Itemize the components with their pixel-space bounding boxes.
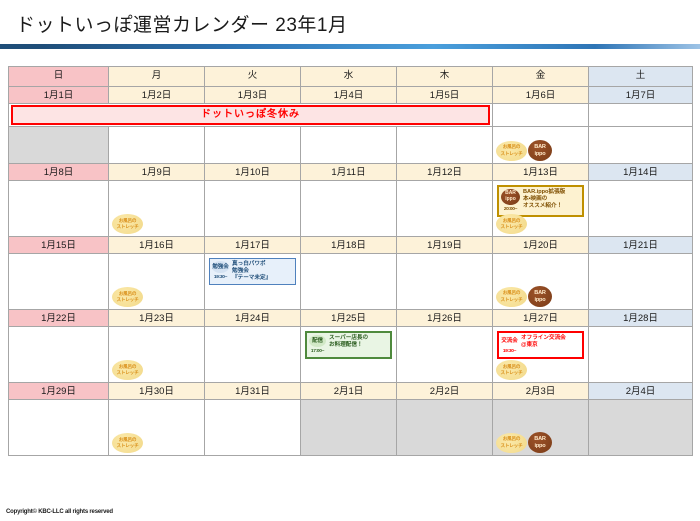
- event-description-line-0: 真っ白パワポ: [232, 261, 293, 268]
- day-cell-1月27日[interactable]: 交流会19:30~オフライン交流会@東京お風呂のストレッチ: [493, 327, 589, 383]
- calendar-date-row: 1月1日1月2日1月3日1月4日1月5日1月6日1月7日: [9, 87, 693, 104]
- dow-header-1: 月: [109, 67, 205, 87]
- day-cell-1月3日[interactable]: [205, 127, 301, 164]
- event-tag-chip: BARippo: [501, 189, 520, 205]
- date-cell-1月5日[interactable]: 1月5日: [397, 87, 493, 104]
- event-tag-column: 交流会19:30~: [501, 335, 518, 355]
- date-cell-1月12日[interactable]: 1月12日: [397, 164, 493, 181]
- badge-line2: ストレッチ: [501, 224, 523, 231]
- event-box-meet[interactable]: 交流会19:30~オフライン交流会@東京: [497, 331, 584, 359]
- day-cell-content: 交流会19:30~オフライン交流会@東京お風呂のストレッチ: [493, 327, 588, 382]
- date-cell-1月6日[interactable]: 1月6日: [493, 87, 589, 104]
- day-badge-group: お風呂のストレッチBARippo: [496, 432, 552, 453]
- ofuro-stretch-badge-icon[interactable]: お風呂のストレッチ: [112, 433, 143, 453]
- badge-line2: ストレッチ: [117, 224, 139, 231]
- day-cell-content: [109, 127, 204, 163]
- day-cell-content: [589, 254, 692, 309]
- event-time: 17:00~: [311, 348, 324, 355]
- day-cell-1月18日[interactable]: [301, 254, 397, 310]
- dow-header-3: 水: [301, 67, 397, 87]
- day-cell-1月13日[interactable]: BARippo20:00~BAR.ippo拡張版本・映画のオススメ紹介！お風呂の…: [493, 181, 589, 237]
- day-cell-content: [397, 254, 492, 309]
- day-cell-1月8日[interactable]: [9, 181, 109, 237]
- day-cell-content: [589, 327, 692, 382]
- header-divider-bar: [0, 44, 700, 49]
- day-cell-1月22日[interactable]: [9, 327, 109, 383]
- ofuro-stretch-badge-icon[interactable]: お風呂のストレッチ: [496, 360, 527, 380]
- day-cell-content: [205, 327, 300, 382]
- calendar-content-row: お風呂のストレッチ配信17:00~スーパー店長のお料理配信！交流会19:30~オ…: [9, 327, 693, 383]
- date-cell-1月8日[interactable]: 1月8日: [9, 164, 109, 181]
- badge-line2: ippo: [534, 151, 545, 158]
- date-cell-1月16日[interactable]: 1月16日: [109, 237, 205, 254]
- calendar-content-row: お風呂のストレッチ勉強会19:30~真っ白パワポ勉強会『テーマ未定』お風呂のスト…: [9, 254, 693, 310]
- date-cell-1月21日[interactable]: 1月21日: [589, 237, 693, 254]
- day-cell-2月3日[interactable]: お風呂のストレッチBARippo: [493, 400, 589, 456]
- banner-empty-cell: [589, 104, 693, 127]
- day-cell-1月29日[interactable]: [9, 400, 109, 456]
- ofuro-stretch-badge-icon[interactable]: お風呂のストレッチ: [112, 287, 143, 307]
- date-cell-1月2日[interactable]: 1月2日: [109, 87, 205, 104]
- date-cell-1月13日[interactable]: 1月13日: [493, 164, 589, 181]
- event-description-line-2: オススメ紹介！: [523, 203, 580, 210]
- date-cell-1月15日[interactable]: 1月15日: [9, 237, 109, 254]
- day-cell-content: [205, 181, 300, 236]
- day-cell-content: 勉強会19:30~真っ白パワポ勉強会『テーマ未定』: [205, 254, 300, 309]
- winter-break-banner[interactable]: ドットいっぽ冬休み: [11, 105, 490, 125]
- day-cell-1月28日[interactable]: [589, 327, 693, 383]
- event-description-line-1: @東京: [521, 342, 580, 349]
- day-cell-1月17日[interactable]: 勉強会19:30~真っ白パワポ勉強会『テーマ未定』: [205, 254, 301, 310]
- date-cell-1月27日[interactable]: 1月27日: [493, 310, 589, 327]
- day-cell-content: [301, 181, 396, 236]
- date-cell-2月4日[interactable]: 2月4日: [589, 383, 693, 400]
- day-badge-group: お風呂のストレッチ: [112, 287, 143, 307]
- calendar-content-row: お風呂のストレッチBARippo: [9, 127, 693, 164]
- event-tag-chip: 勉強会: [212, 261, 229, 273]
- day-cell-1月6日[interactable]: お風呂のストレッチBARippo: [493, 127, 589, 164]
- day-cell-content: お風呂のストレッチ: [109, 327, 204, 382]
- badge-line1: BAR: [534, 290, 546, 297]
- date-cell-1月23日[interactable]: 1月23日: [109, 310, 205, 327]
- dow-header-2: 火: [205, 67, 301, 87]
- day-cell-1月12日[interactable]: [397, 181, 493, 237]
- date-cell-1月9日[interactable]: 1月9日: [109, 164, 205, 181]
- event-description-line-1: 本・映画の: [523, 196, 580, 203]
- day-cell-content: 配信17:00~スーパー店長のお料理配信！: [301, 327, 396, 382]
- day-cell-1月15日[interactable]: [9, 254, 109, 310]
- date-cell-2月1日[interactable]: 2月1日: [301, 383, 397, 400]
- date-cell-1月29日[interactable]: 1月29日: [9, 383, 109, 400]
- day-cell-1月24日[interactable]: [205, 327, 301, 383]
- day-badge-group: お風呂のストレッチBARippo: [496, 286, 552, 307]
- badge-line2: ストレッチ: [117, 370, 139, 377]
- day-cell-content: [9, 400, 108, 455]
- day-cell-2月4日[interactable]: [589, 400, 693, 456]
- calendar-date-row: 1月29日1月30日1月31日2月1日2月2日2月3日2月4日: [9, 383, 693, 400]
- badge-line1: BAR: [534, 436, 546, 443]
- badge-line2: ストレッチ: [117, 443, 139, 450]
- day-cell-1月26日[interactable]: [397, 327, 493, 383]
- event-tag-column: BARippo20:00~: [501, 189, 520, 213]
- day-cell-1月31日[interactable]: [205, 400, 301, 456]
- date-cell-1月4日[interactable]: 1月4日: [301, 87, 397, 104]
- dow-header-6: 土: [589, 67, 693, 87]
- calendar-table: 日月火水木金土1月1日1月2日1月3日1月4日1月5日1月6日1月7日ドットいっ…: [8, 66, 693, 456]
- badge-line2: ippo: [534, 297, 545, 304]
- day-cell-1月5日[interactable]: [397, 127, 493, 164]
- date-cell-1月11日[interactable]: 1月11日: [301, 164, 397, 181]
- event-tag-column: 勉強会19:30~: [212, 261, 229, 281]
- day-cell-content: お風呂のストレッチBARippo: [493, 400, 588, 455]
- day-cell-content: BARippo20:00~BAR.ippo拡張版本・映画のオススメ紹介！お風呂の…: [493, 181, 588, 236]
- winter-break-banner-cell: ドットいっぽ冬休み: [9, 104, 493, 127]
- ofuro-stretch-badge-icon[interactable]: お風呂のストレッチ: [112, 214, 143, 234]
- day-cell-content: [397, 400, 492, 455]
- date-cell-1月10日[interactable]: 1月10日: [205, 164, 301, 181]
- day-cell-content: お風呂のストレッチ: [109, 254, 204, 309]
- banner-empty-cell: [493, 104, 589, 127]
- date-cell-2月3日[interactable]: 2月3日: [493, 383, 589, 400]
- calendar-date-row: 1月22日1月23日1月24日1月25日1月26日1月27日1月28日: [9, 310, 693, 327]
- ofuro-stretch-badge-icon[interactable]: お風呂のストレッチ: [496, 433, 527, 453]
- date-cell-1月7日[interactable]: 1月7日: [589, 87, 693, 104]
- date-cell-1月24日[interactable]: 1月24日: [205, 310, 301, 327]
- event-description-line-0: BAR.ippo拡張版: [523, 189, 580, 196]
- day-cell-1月9日[interactable]: お風呂のストレッチ: [109, 181, 205, 237]
- event-description-line-1: お料理配信！: [329, 342, 388, 349]
- day-cell-content: お風呂のストレッチ: [109, 400, 204, 455]
- ofuro-stretch-badge-icon[interactable]: お風呂のストレッチ: [496, 214, 527, 234]
- date-cell-1月18日[interactable]: 1月18日: [301, 237, 397, 254]
- calendar-date-row: 1月15日1月16日1月17日1月18日1月19日1月20日1月21日: [9, 237, 693, 254]
- day-badge-group: お風呂のストレッチ: [112, 214, 143, 234]
- day-cell-1月4日[interactable]: [301, 127, 397, 164]
- calendar-content-row: お風呂のストレッチBARippo20:00~BAR.ippo拡張版本・映画のオス…: [9, 181, 693, 237]
- day-cell-1月16日[interactable]: お風呂のストレッチ: [109, 254, 205, 310]
- day-cell-1月11日[interactable]: [301, 181, 397, 237]
- page-title: ドットいっぽ運営カレンダー 23年1月: [16, 10, 347, 37]
- dow-header-0: 日: [9, 67, 109, 87]
- badge-line2: ストレッチ: [501, 370, 523, 377]
- day-cell-content: [397, 181, 492, 236]
- event-description: 真っ白パワポ勉強会『テーマ未定』: [232, 261, 293, 282]
- date-cell-1月31日[interactable]: 1月31日: [205, 383, 301, 400]
- event-tag-chip: 交流会: [501, 335, 518, 347]
- event-description: スーパー店長のお料理配信！: [329, 335, 388, 349]
- ofuro-stretch-badge-icon[interactable]: お風呂のストレッチ: [112, 360, 143, 380]
- event-description-line-0: スーパー店長の: [329, 335, 388, 342]
- calendar-date-row: 1月8日1月9日1月10日1月11日1月12日1月13日1月14日: [9, 164, 693, 181]
- bar-ippo-badge-icon[interactable]: BARippo: [528, 140, 552, 161]
- day-cell-1月1日[interactable]: [9, 127, 109, 164]
- day-cell-content: [9, 327, 108, 382]
- date-cell-1月28日[interactable]: 1月28日: [589, 310, 693, 327]
- date-cell-1月26日[interactable]: 1月26日: [397, 310, 493, 327]
- day-cell-content: [589, 400, 692, 455]
- day-cell-content: [397, 327, 492, 382]
- ofuro-stretch-badge-icon[interactable]: お風呂のストレッチ: [496, 141, 527, 161]
- date-cell-1月30日[interactable]: 1月30日: [109, 383, 205, 400]
- day-cell-1月21日[interactable]: [589, 254, 693, 310]
- calendar-content-row: お風呂のストレッチお風呂のストレッチBARippo: [9, 400, 693, 456]
- day-cell-2月1日[interactable]: [301, 400, 397, 456]
- event-description-line-1: 勉強会: [232, 268, 293, 275]
- bar-ippo-badge-icon[interactable]: BARippo: [528, 432, 552, 453]
- day-cell-content: [9, 181, 108, 236]
- date-cell-1月19日[interactable]: 1月19日: [397, 237, 493, 254]
- event-description-line-0: オフライン交流会: [521, 335, 580, 342]
- day-cell-1月25日[interactable]: 配信17:00~スーパー店長のお料理配信！: [301, 327, 397, 383]
- badge-line2: ストレッチ: [501, 297, 523, 304]
- day-cell-1月23日[interactable]: お風呂のストレッチ: [109, 327, 205, 383]
- event-description: オフライン交流会@東京: [521, 335, 580, 349]
- event-tag-column: 配信17:00~: [309, 335, 326, 355]
- date-cell-1月1日[interactable]: 1月1日: [9, 87, 109, 104]
- event-time: 19:30~: [214, 274, 227, 281]
- date-cell-1月25日[interactable]: 1月25日: [301, 310, 397, 327]
- day-cell-content: お風呂のストレッチBARippo: [493, 127, 588, 163]
- date-cell-1月14日[interactable]: 1月14日: [589, 164, 693, 181]
- date-cell-1月22日[interactable]: 1月22日: [9, 310, 109, 327]
- ofuro-stretch-badge-icon[interactable]: お風呂のストレッチ: [496, 287, 527, 307]
- badge-line1: BAR: [534, 144, 546, 151]
- event-time: 20:00~: [504, 206, 517, 213]
- day-badge-group: お風呂のストレッチBARippo: [496, 140, 552, 161]
- copyright-notice: Copyright© KBC-LLC all rights reserved: [6, 509, 113, 515]
- day-cell-1月20日[interactable]: お風呂のストレッチBARippo: [493, 254, 589, 310]
- day-cell-content: [397, 127, 492, 163]
- day-cell-content: [301, 400, 396, 455]
- day-cell-content: [301, 127, 396, 163]
- date-cell-1月3日[interactable]: 1月3日: [205, 87, 301, 104]
- badge-line2: ストレッチ: [501, 443, 523, 450]
- day-cell-1月2日[interactable]: [109, 127, 205, 164]
- day-cell-content: お風呂のストレッチ: [109, 181, 204, 236]
- event-description-line-2: 『テーマ未定』: [232, 275, 293, 282]
- day-cell-content: [589, 127, 692, 163]
- event-box-bar[interactable]: BARippo20:00~BAR.ippo拡張版本・映画のオススメ紹介！: [497, 185, 584, 217]
- calendar-dow-header-row: 日月火水木金土: [9, 67, 693, 87]
- day-cell-content: [205, 400, 300, 455]
- day-cell-1月7日[interactable]: [589, 127, 693, 164]
- day-cell-content: [9, 127, 108, 163]
- day-cell-2月2日[interactable]: [397, 400, 493, 456]
- day-badge-group: お風呂のストレッチ: [112, 360, 143, 380]
- dow-header-5: 金: [493, 67, 589, 87]
- event-description: BAR.ippo拡張版本・映画のオススメ紹介！: [523, 189, 580, 210]
- day-cell-content: [301, 254, 396, 309]
- date-cell-1月20日[interactable]: 1月20日: [493, 237, 589, 254]
- bar-ippo-badge-icon[interactable]: BARippo: [528, 286, 552, 307]
- day-cell-content: [205, 127, 300, 163]
- day-cell-content: お風呂のストレッチBARippo: [493, 254, 588, 309]
- dow-header-4: 木: [397, 67, 493, 87]
- winter-break-banner-row: ドットいっぽ冬休み: [9, 104, 693, 127]
- day-cell-1月14日[interactable]: [589, 181, 693, 237]
- day-cell-content: [9, 254, 108, 309]
- date-cell-1月17日[interactable]: 1月17日: [205, 237, 301, 254]
- day-cell-content: [589, 181, 692, 236]
- day-cell-1月19日[interactable]: [397, 254, 493, 310]
- day-badge-group: お風呂のストレッチ: [496, 360, 527, 380]
- event-box-study[interactable]: 勉強会19:30~真っ白パワポ勉強会『テーマ未定』: [209, 258, 296, 285]
- day-badge-group: お風呂のストレッチ: [112, 433, 143, 453]
- event-box-live[interactable]: 配信17:00~スーパー店長のお料理配信！: [305, 331, 392, 359]
- day-badge-group: お風呂のストレッチ: [496, 214, 527, 234]
- badge-line2: ストレッチ: [501, 151, 523, 158]
- event-time: 19:30~: [503, 348, 516, 355]
- badge-line2: ストレッチ: [117, 297, 139, 304]
- day-cell-1月10日[interactable]: [205, 181, 301, 237]
- badge-line2: ippo: [534, 443, 545, 450]
- event-tag-chip: 配信: [309, 335, 326, 347]
- date-cell-2月2日[interactable]: 2月2日: [397, 383, 493, 400]
- day-cell-1月30日[interactable]: お風呂のストレッチ: [109, 400, 205, 456]
